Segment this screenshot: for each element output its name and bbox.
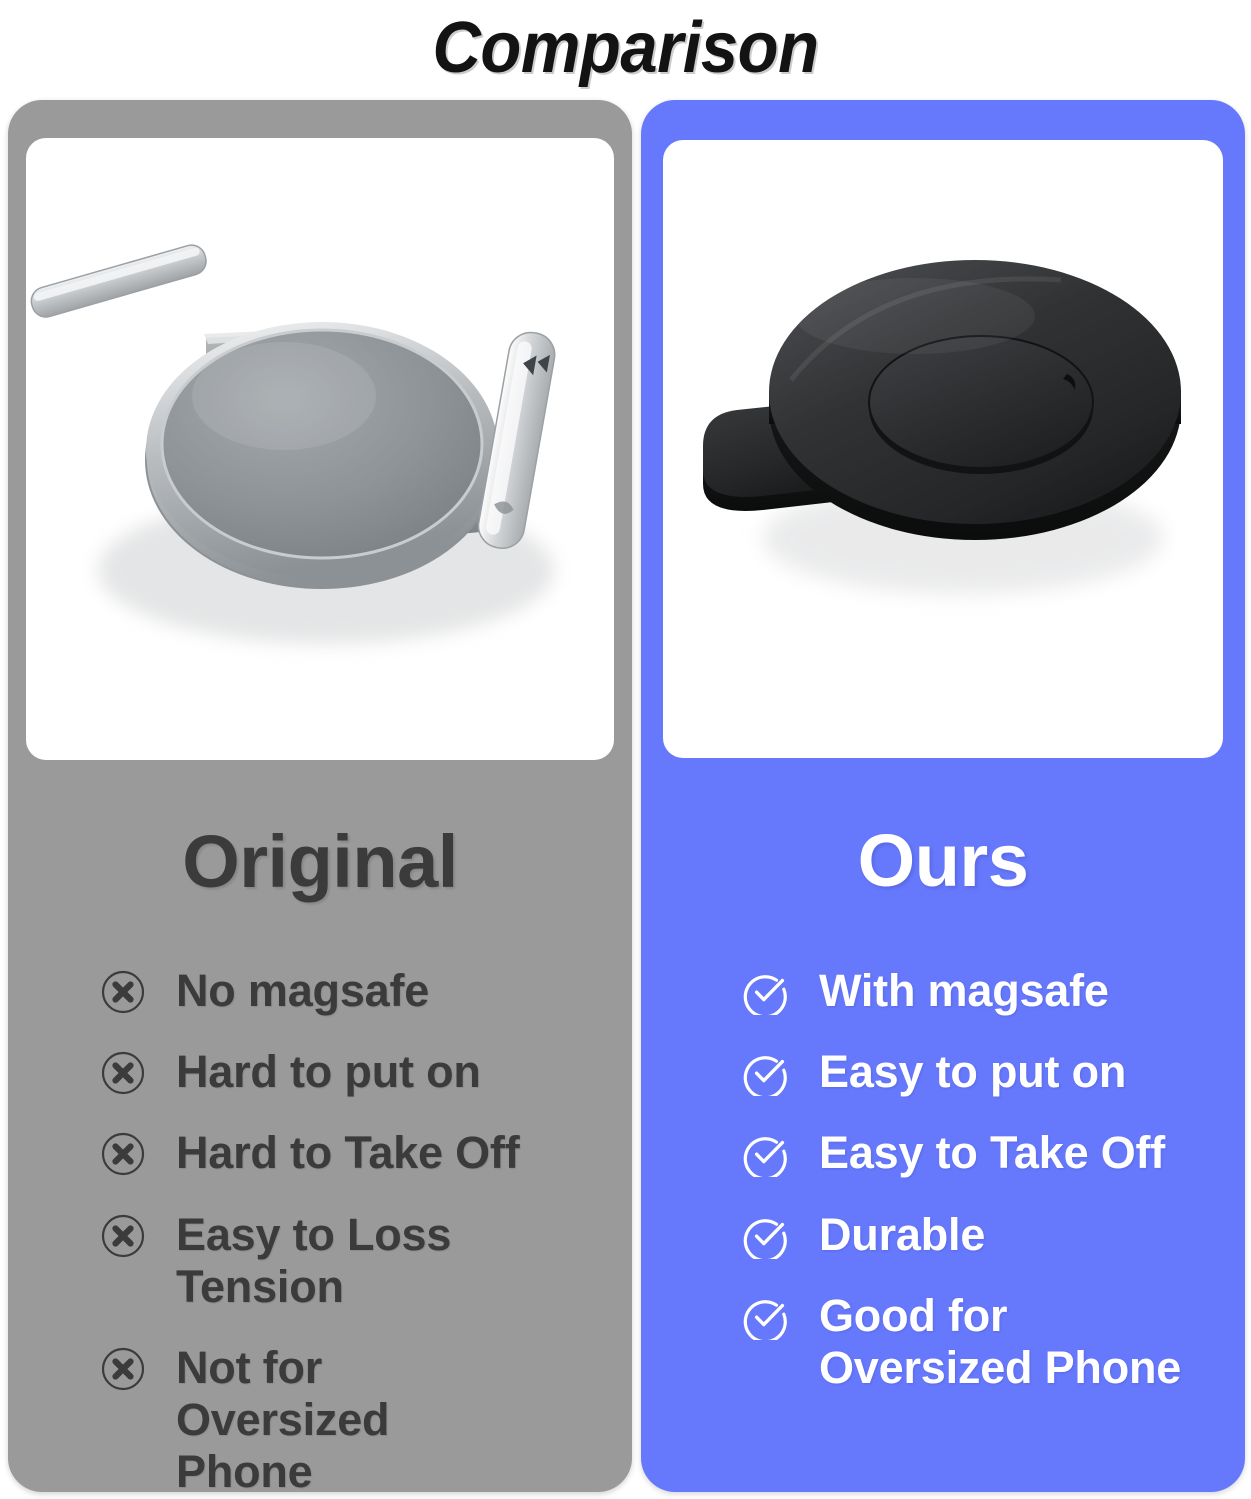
cross-circle-icon xyxy=(100,969,146,1015)
black-magsafe-disc-illustration xyxy=(663,140,1223,758)
feature-label: Durable xyxy=(819,1209,985,1261)
feature-label: No magsafe xyxy=(176,965,429,1017)
feature-label: With magsafe xyxy=(819,965,1109,1017)
feature-label: Good for Oversized Phone xyxy=(819,1290,1219,1394)
check-circle-icon xyxy=(743,1131,789,1177)
check-circle-icon xyxy=(743,1294,789,1340)
list-item: With magsafe xyxy=(743,965,1229,1017)
panel-heading-ours: Ours xyxy=(641,824,1245,898)
feature-label: Easy to Take Off xyxy=(819,1127,1165,1179)
title-bar: Comparison xyxy=(0,0,1251,96)
list-item: Hard to Take Off xyxy=(100,1127,616,1179)
list-item: Good for Oversized Phone xyxy=(743,1290,1229,1394)
feature-label: Easy to put on xyxy=(819,1046,1126,1098)
cross-circle-icon xyxy=(100,1131,146,1177)
check-circle-icon xyxy=(743,969,789,1015)
cross-circle-icon xyxy=(100,1213,146,1259)
feature-label: Hard to Take Off xyxy=(176,1127,520,1179)
check-circle-icon xyxy=(743,1050,789,1096)
list-item: Durable xyxy=(743,1209,1229,1261)
product-image-original xyxy=(26,138,614,760)
feature-label: Not for Oversized Phone xyxy=(176,1342,536,1492)
feature-label: Hard to put on xyxy=(176,1046,481,1098)
list-item: Easy to Take Off xyxy=(743,1127,1229,1179)
list-item: No magsafe xyxy=(100,965,616,1017)
feature-list-ours: With magsafe Easy to put on xyxy=(641,965,1245,1423)
check-circle-icon xyxy=(743,1213,789,1259)
list-item: Not for Oversized Phone xyxy=(100,1342,616,1492)
list-item: Hard to put on xyxy=(100,1046,616,1098)
panel-original: Original No magsafe Har xyxy=(8,100,632,1492)
feature-label: Easy to Loss Tension xyxy=(176,1209,616,1313)
list-item: Easy to Loss Tension xyxy=(100,1209,616,1313)
feature-list-original: No magsafe Hard to put on xyxy=(8,965,632,1492)
cross-circle-icon xyxy=(100,1346,146,1392)
cross-circle-icon xyxy=(100,1050,146,1096)
panel-ours: Ours With magsafe Easy xyxy=(641,100,1245,1492)
product-image-ours xyxy=(663,140,1223,758)
list-item: Easy to put on xyxy=(743,1046,1229,1098)
panel-heading-original: Original xyxy=(8,825,632,899)
page-title: Comparison xyxy=(432,12,818,84)
comparison-panels: Original No magsafe Har xyxy=(0,100,1251,1499)
silver-ring-holder-illustration xyxy=(26,138,614,760)
